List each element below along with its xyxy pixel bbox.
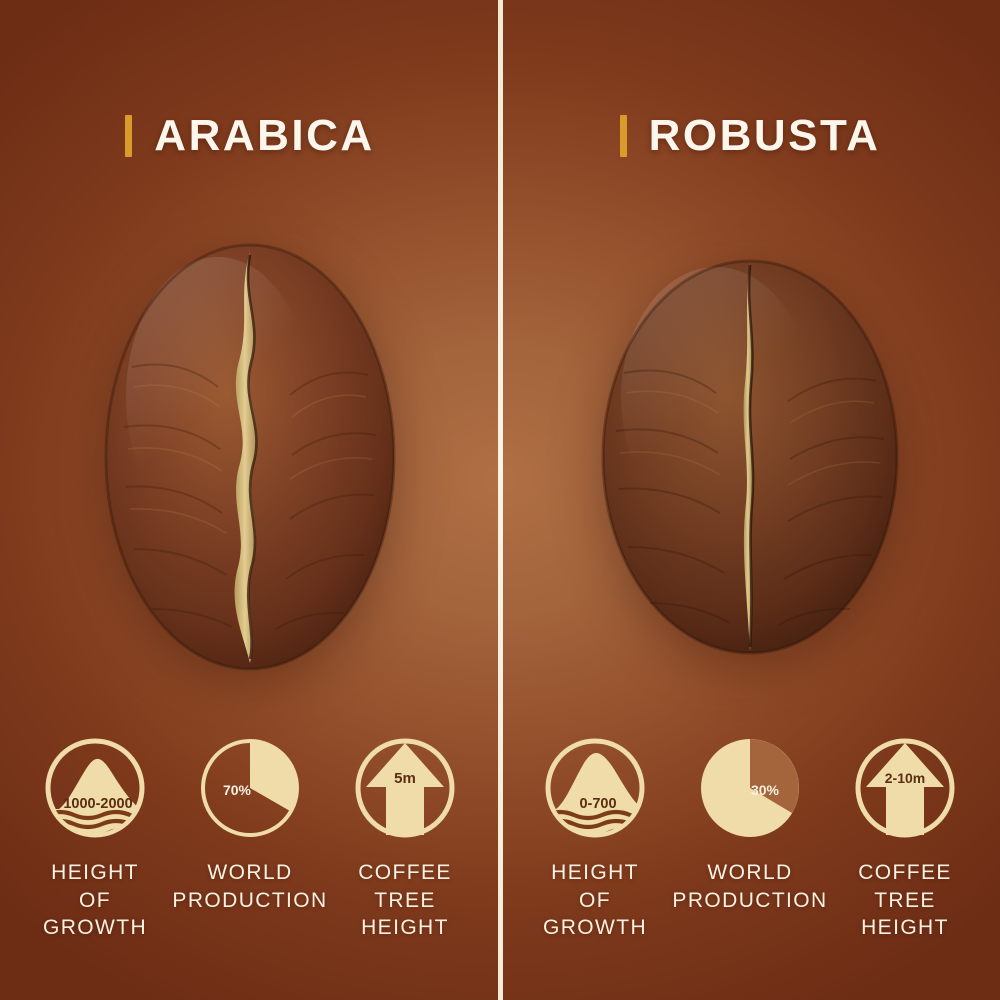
- stat-height-of-growth[interactable]: 0-700 HEIGHT OF GROWTH: [518, 735, 673, 942]
- stats-row-robusta: 0-700 HEIGHT OF GROWTH 30% WORLD PRODUCT…: [500, 735, 1000, 942]
- stat-world-production[interactable]: 30% WORLD PRODUCTION: [673, 735, 828, 942]
- up-arrow-icon: 2-10m: [852, 735, 958, 841]
- coffee-comparison-infographic: ARABICA: [0, 0, 1000, 1000]
- stat-label: WORLD PRODUCTION: [172, 859, 327, 914]
- stat-label: COFFEE TREE HEIGHT: [858, 859, 952, 942]
- panel-title-robusta: ROBUSTA: [500, 114, 1000, 158]
- stat-value-text: 1000-2000: [63, 796, 132, 812]
- stat-label: WORLD PRODUCTION: [672, 859, 827, 914]
- stat-value-text: 2-10m: [885, 770, 925, 786]
- panel-robusta: ROBUSTA: [500, 0, 1000, 1000]
- bean-image-robusta: [500, 222, 1000, 692]
- pie-chart-icon: 30%: [697, 735, 803, 841]
- panel-title-arabica: ARABICA: [0, 114, 500, 158]
- stats-row-arabica: 1000-2000 HEIGHT OF GROWTH 70% WORLD PRO…: [0, 735, 500, 942]
- mountain-altitude-icon: 1000-2000: [42, 735, 148, 841]
- stat-coffee-tree-height[interactable]: 5m COFFEE TREE HEIGHT: [328, 735, 483, 942]
- title-accent-bar-icon: [620, 115, 627, 157]
- stat-label: HEIGHT OF GROWTH: [543, 859, 647, 942]
- panel-title-text: ARABICA: [154, 114, 374, 158]
- arabica-coffee-bean-icon: [100, 237, 400, 677]
- stat-coffee-tree-height[interactable]: 2-10m COFFEE TREE HEIGHT: [828, 735, 983, 942]
- stat-label: COFFEE TREE HEIGHT: [358, 859, 452, 942]
- mountain-altitude-icon: 0-700: [542, 735, 648, 841]
- pie-chart-icon: 70%: [197, 735, 303, 841]
- stat-height-of-growth[interactable]: 1000-2000 HEIGHT OF GROWTH: [18, 735, 173, 942]
- title-accent-bar-icon: [125, 115, 132, 157]
- panel-title-text: ROBUSTA: [649, 114, 881, 158]
- stat-value-text: 70%: [223, 782, 252, 798]
- robusta-coffee-bean-icon: [600, 247, 900, 667]
- stat-value-text: 30%: [751, 782, 780, 798]
- bean-image-arabica: [0, 222, 500, 692]
- stat-value-text: 5m: [394, 770, 416, 787]
- stat-world-production[interactable]: 70% WORLD PRODUCTION: [173, 735, 328, 942]
- stat-label: HEIGHT OF GROWTH: [43, 859, 147, 942]
- panel-divider: [498, 0, 503, 1000]
- up-arrow-icon: 5m: [352, 735, 458, 841]
- stat-value-text: 0-700: [579, 796, 616, 812]
- panel-arabica: ARABICA: [0, 0, 500, 1000]
